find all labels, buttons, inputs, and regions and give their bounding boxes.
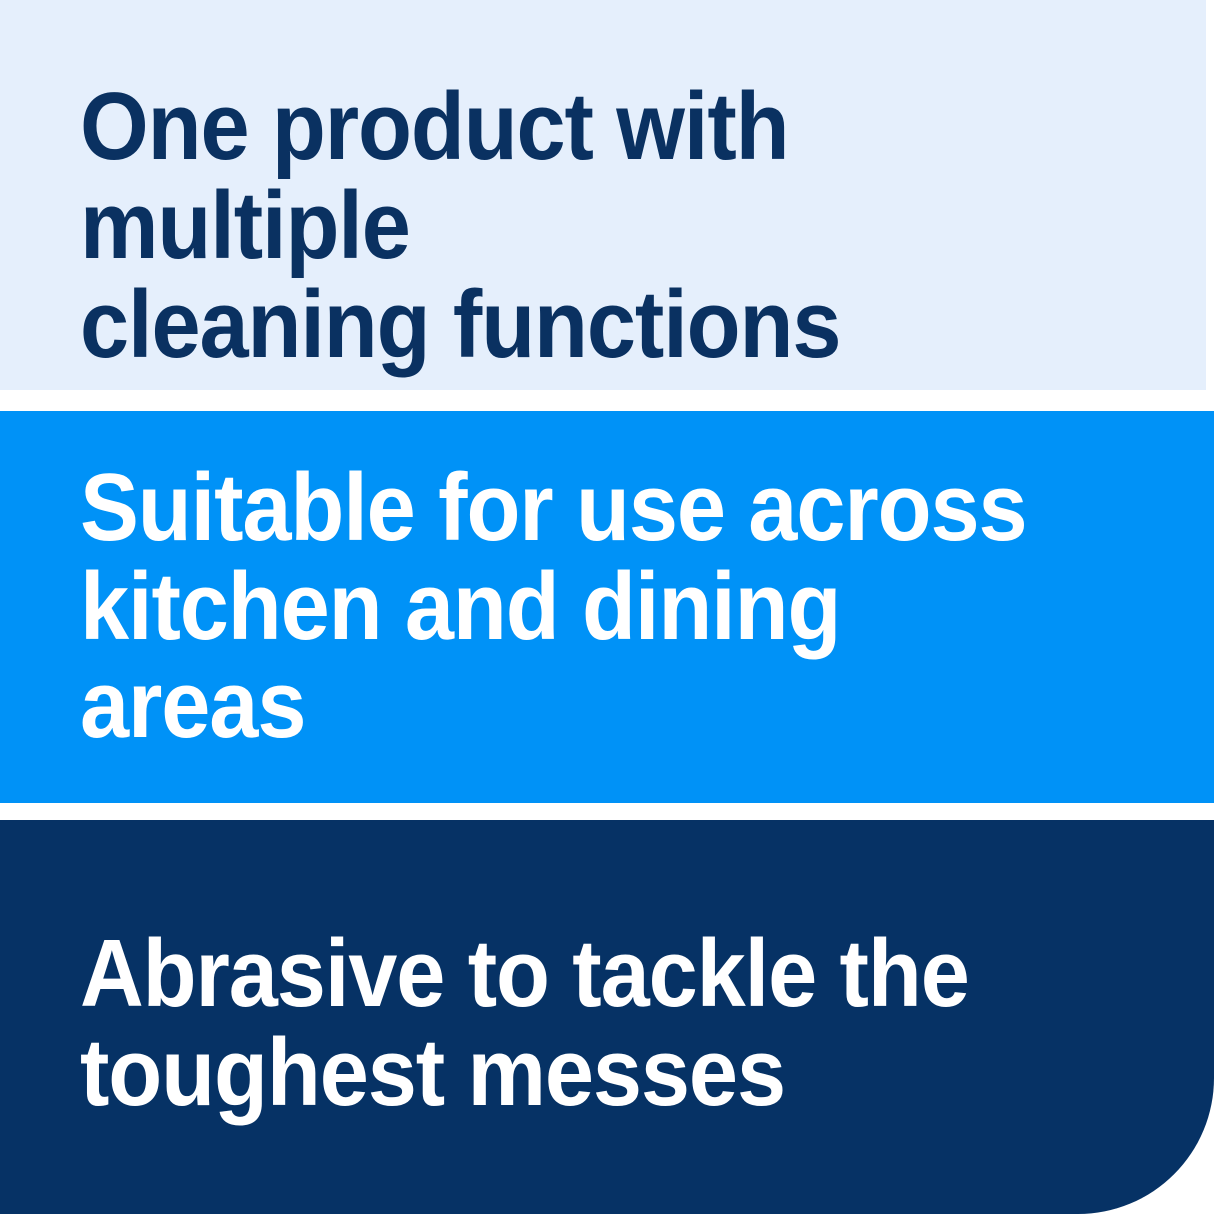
benefit-heading-abrasive: Abrasive to tackle the toughest messes (80, 925, 969, 1123)
benefit-panel-one-product: One product with multiple cleaning funct… (0, 0, 1206, 390)
benefit-heading-suitable-for-use: Suitable for use across kitchen and dini… (80, 459, 1086, 756)
benefit-panel-abrasive: Abrasive to tackle the toughest messes (0, 820, 1214, 1214)
benefit-panel-stack: One product with multiple cleaning funct… (0, 0, 1214, 1214)
benefit-panel-suitable-for-use: Suitable for use across kitchen and dini… (0, 411, 1214, 803)
benefit-heading-one-product: One product with multiple cleaning funct… (80, 78, 1079, 375)
